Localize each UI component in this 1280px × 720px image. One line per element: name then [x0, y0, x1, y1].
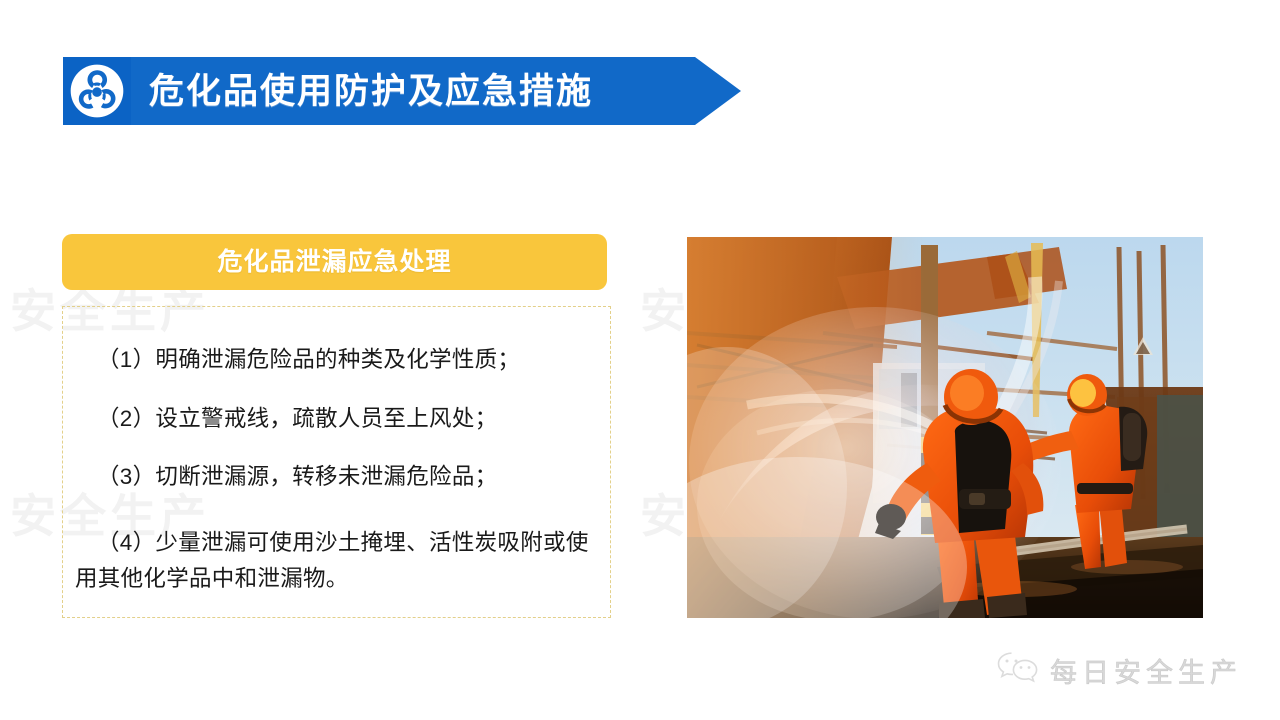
emergency-steps-list: （1）明确泄漏危险品的种类及化学性质； （2）设立警戒线，疏散人员至上风处； （… [75, 349, 596, 597]
content-left-column: 危化品泄漏应急处理 （1）明确泄漏危险品的种类及化学性质； （2）设立警戒线，疏… [62, 234, 611, 618]
section-content-box: （1）明确泄漏危险品的种类及化学性质； （2）设立警戒线，疏散人员至上风处； （… [62, 306, 611, 618]
section-heading-pill: 危化品泄漏应急处理 [62, 234, 607, 290]
list-item: （1）明确泄漏危险品的种类及化学性质； [75, 349, 596, 372]
list-item: （4）少量泄漏可使用沙土掩埋、活性炭吸附或使用其他化学品中和泄漏物。 [75, 525, 596, 598]
page-title: 危化品使用防护及应急措施 [149, 74, 593, 109]
biohazard-icon [63, 57, 131, 125]
list-item: （3）切断泄漏源，转移未泄漏危险品； [75, 466, 596, 489]
slide-canvas: 安全生产 安全生产 安全生产 安全生产 [0, 0, 1280, 720]
emergency-response-photo [687, 237, 1203, 618]
list-item: （2）设立警戒线，疏散人员至上风处； [75, 408, 596, 431]
footer-account-name: 每日安全生产 [1050, 651, 1242, 690]
page-title-banner: 危化品使用防护及应急措施 [131, 57, 741, 125]
page-header: 危化品使用防护及应急措施 [63, 57, 741, 125]
section-heading-text: 危化品泄漏应急处理 [217, 250, 451, 275]
wechat-icon [996, 651, 1040, 690]
footer-watermark: 每日安全生产 [996, 651, 1242, 690]
